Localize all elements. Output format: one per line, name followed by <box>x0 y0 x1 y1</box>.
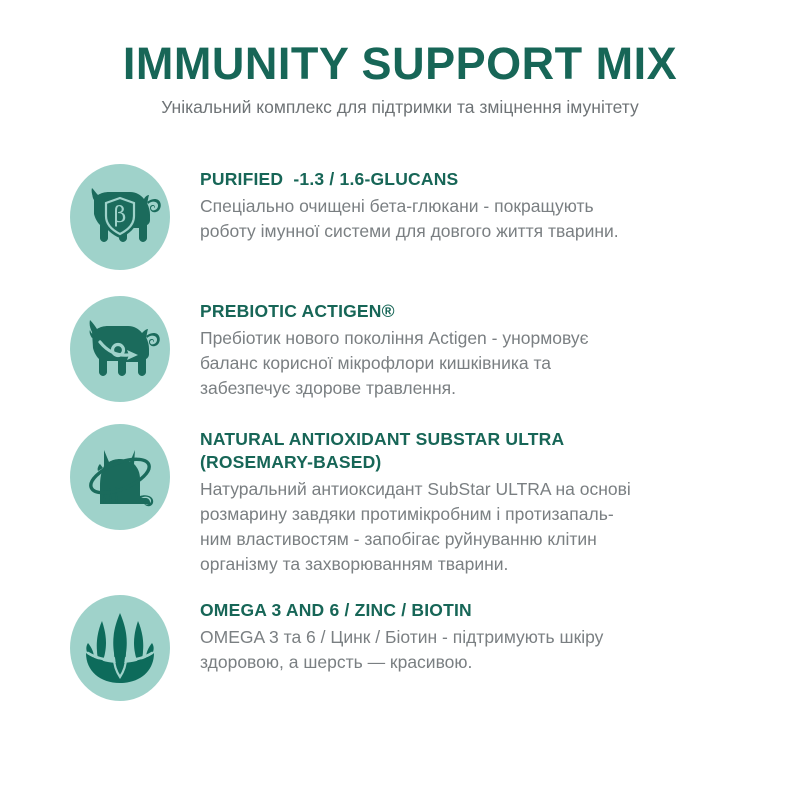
feature-heading: PREBIOTIC ACTIGEN® <box>200 300 770 323</box>
hair-follicle-skin-coat-icon <box>70 595 170 701</box>
feature-item-purified-glucans: β PURIFIED -1.3 / 1.6-GLUCANS Спеціально… <box>70 164 770 270</box>
feature-body: OMEGA 3 AND 6 / ZINC / BIOTIN OMEGA 3 та… <box>200 595 770 675</box>
feature-description: Пребіотик нового покоління Actigen - уно… <box>200 326 770 401</box>
immunity-support-infographic: IMMUNITY SUPPORT MIX Унікальний комплекс… <box>0 0 800 800</box>
feature-item-natural-antioxidant: NATURAL ANTIOXIDANT SUBSTAR ULTRA (ROSEM… <box>70 424 770 577</box>
dog-digestion-arrow-icon <box>70 296 170 402</box>
header: IMMUNITY SUPPORT MIX Унікальний комплекс… <box>0 0 800 118</box>
page-subtitle: Унікальний комплекс для підтримки та змі… <box>0 97 800 118</box>
feature-list: β PURIFIED -1.3 / 1.6-GLUCANS Спеціально… <box>0 164 800 701</box>
feature-body: PREBIOTIC ACTIGEN® Пребіотик нового поко… <box>200 296 770 401</box>
feature-icon-container: β <box>70 164 170 270</box>
page-title: IMMUNITY SUPPORT MIX <box>0 40 800 87</box>
feature-description: Спеціально очищені бета-глюкани - покращ… <box>200 194 770 244</box>
cat-orbit-antioxidant-icon <box>70 424 170 530</box>
feature-heading: NATURAL ANTIOXIDANT SUBSTAR ULTRA (ROSEM… <box>200 428 770 474</box>
svg-text:β: β <box>114 203 127 228</box>
feature-description: OMEGA 3 та 6 / Цинк / Біотин - підтримую… <box>200 625 770 675</box>
feature-icon-container <box>70 424 170 530</box>
feature-heading: OMEGA 3 AND 6 / ZINC / BIOTIN <box>200 599 770 622</box>
feature-item-prebiotic-actigen: PREBIOTIC ACTIGEN® Пребіотик нового поко… <box>70 296 770 402</box>
feature-description: Натуральний антиоксидант SubStar ULTRA н… <box>200 477 770 576</box>
feature-body: NATURAL ANTIOXIDANT SUBSTAR ULTRA (ROSEM… <box>200 424 770 577</box>
feature-icon-container <box>70 296 170 402</box>
dog-shield-beta-icon: β <box>70 164 170 270</box>
feature-icon-container <box>70 595 170 701</box>
feature-body: PURIFIED -1.3 / 1.6-GLUCANS Спеціально о… <box>200 164 770 244</box>
feature-item-omega-zinc-biotin: OMEGA 3 AND 6 / ZINC / BIOTIN OMEGA 3 та… <box>70 595 770 701</box>
feature-heading: PURIFIED -1.3 / 1.6-GLUCANS <box>200 168 770 191</box>
